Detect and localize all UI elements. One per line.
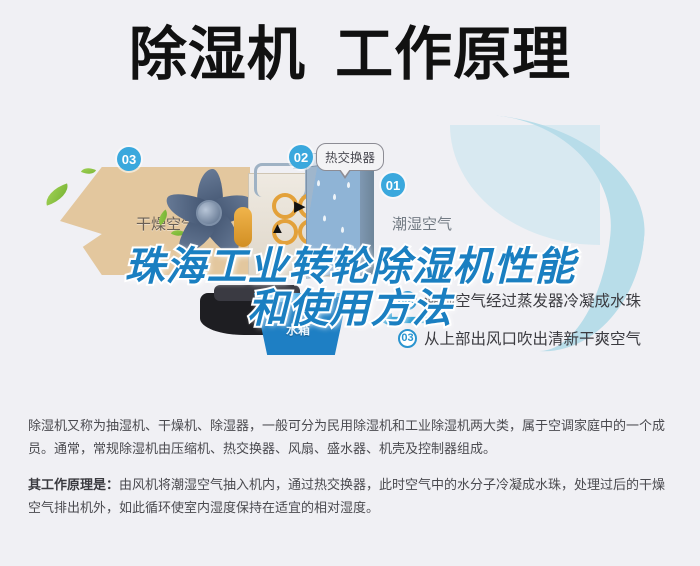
leaf-icon	[42, 183, 71, 205]
diagram-badge-02: 02	[289, 145, 313, 169]
leaf-icon	[81, 165, 96, 178]
humid-air-label: 潮湿空气	[392, 213, 452, 234]
page-title-part1: 除湿机	[129, 22, 306, 87]
paragraph-2: 其工作原理是：由风机将潮湿空气抽入机内，通过热交换器，此时空气中的水分子冷凝成水…	[28, 473, 676, 519]
compressor-cylinder	[234, 207, 252, 247]
fan-hub	[196, 200, 222, 226]
page-title-part2: 工作原理	[335, 22, 571, 87]
flow-arrow-right-icon: ▶	[294, 199, 306, 214]
page-title: 除湿机 工作原理	[0, 26, 700, 84]
diagram-badge-01: 01	[381, 173, 405, 197]
flow-arrow-up-icon: ▲	[270, 221, 285, 236]
heat-exchanger-callout: 热交换器	[316, 143, 384, 171]
paragraph-1: 除湿机又称为抽湿机、干燥机、除湿器，一般可分为民用除湿机和工业除湿机两大类，属于…	[28, 414, 676, 460]
water-droplet-icon	[347, 182, 350, 188]
water-droplet-icon	[341, 227, 344, 233]
watermark-overlay: 珠海工业转轮除湿机性能 和使用方法	[0, 246, 700, 331]
water-droplet-icon	[333, 194, 336, 200]
diagram-badge-03: 03	[117, 147, 141, 171]
paragraph-2-rest: 由风机将潮湿空气抽入机内，通过热交换器，此时空气中的水分子冷凝成水珠，处理过后的…	[28, 477, 665, 515]
watermark-line-1: 珠海工业转轮除湿机性能	[0, 246, 700, 288]
step-badge: 03	[398, 329, 417, 348]
water-droplet-icon	[317, 180, 320, 186]
water-droplet-icon	[323, 215, 326, 221]
article-body: 除湿机又称为抽湿机、干燥机、除湿器，一般可分为民用除湿机和工业除湿机两大类，属于…	[28, 414, 676, 532]
paragraph-2-lead: 其工作原理是：	[28, 477, 119, 492]
watermark-line-2: 和使用方法	[0, 288, 700, 330]
